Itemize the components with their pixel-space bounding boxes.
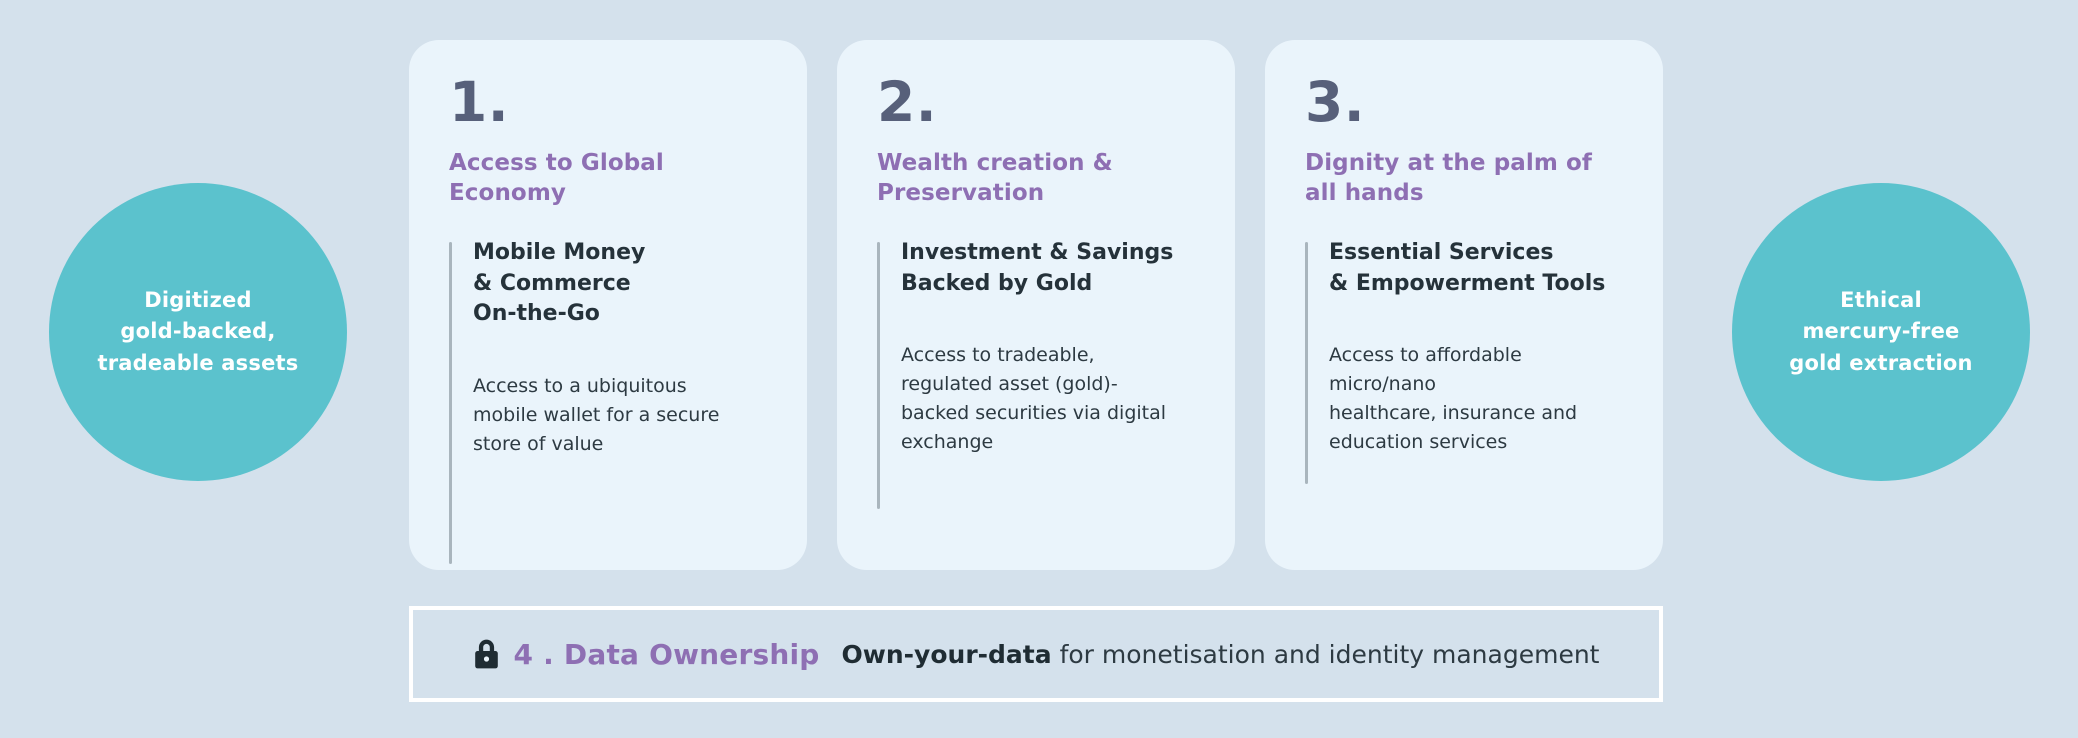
card-2-number: 2.: [877, 74, 1195, 132]
card-1-description: Access to a ubiquitous mobile wallet for…: [473, 372, 767, 459]
pillar-card-2: 2. Wealth creation & Preservation Invest…: [837, 40, 1235, 570]
banner-content: 4 . Data Ownership Own-your-data for mon…: [473, 638, 1600, 671]
left-circle-label: Digitized gold-backed, tradeable assets: [80, 285, 317, 380]
card-3-accent-bar: [1305, 242, 1308, 484]
card-1-number: 1.: [449, 74, 767, 132]
banner-number-label: 4 . Data Ownership: [514, 638, 820, 671]
pillar-card-1: 1. Access to Global Economy Mobile Money…: [409, 40, 807, 570]
card-2-body: Investment & Savings Backed by Gold Acce…: [877, 238, 1195, 513]
card-3-number: 3.: [1305, 74, 1623, 132]
card-3-description: Access to affordable micro/nano healthca…: [1329, 341, 1623, 457]
banner-strong-text: Own-your-data: [842, 640, 1052, 669]
card-1-body: Mobile Money & Commerce On-the-Go Access…: [449, 238, 767, 568]
pillar-card-3: 3. Dignity at the palm of all hands Esse…: [1265, 40, 1663, 570]
card-2-subtitle: Investment & Savings Backed by Gold: [901, 238, 1195, 299]
banner-rest-text: for monetisation and identity management: [1052, 640, 1600, 669]
card-3-body: Essential Services & Empowerment Tools A…: [1305, 238, 1623, 488]
card-3-subtitle: Essential Services & Empowerment Tools: [1329, 238, 1623, 299]
card-2-accent-bar: [877, 242, 880, 509]
card-1-heading: Access to Global Economy: [449, 148, 767, 209]
card-1-accent-bar: [449, 242, 452, 564]
card-2-heading: Wealth creation & Preservation: [877, 148, 1195, 209]
left-value-circle: Digitized gold-backed, tradeable assets: [49, 183, 347, 481]
right-value-circle: Ethical mercury-free gold extraction: [1732, 183, 2030, 481]
card-2-description: Access to tradeable, regulated asset (go…: [901, 341, 1195, 457]
card-1-subtitle: Mobile Money & Commerce On-the-Go: [473, 238, 767, 329]
card-3-heading: Dignity at the palm of all hands: [1305, 148, 1623, 209]
right-circle-label: Ethical mercury-free gold extraction: [1771, 285, 1990, 380]
infographic-canvas: Digitized gold-backed, tradeable assets …: [0, 0, 2078, 738]
lock-icon: [473, 638, 500, 670]
data-ownership-banner: 4 . Data Ownership Own-your-data for mon…: [409, 606, 1663, 702]
